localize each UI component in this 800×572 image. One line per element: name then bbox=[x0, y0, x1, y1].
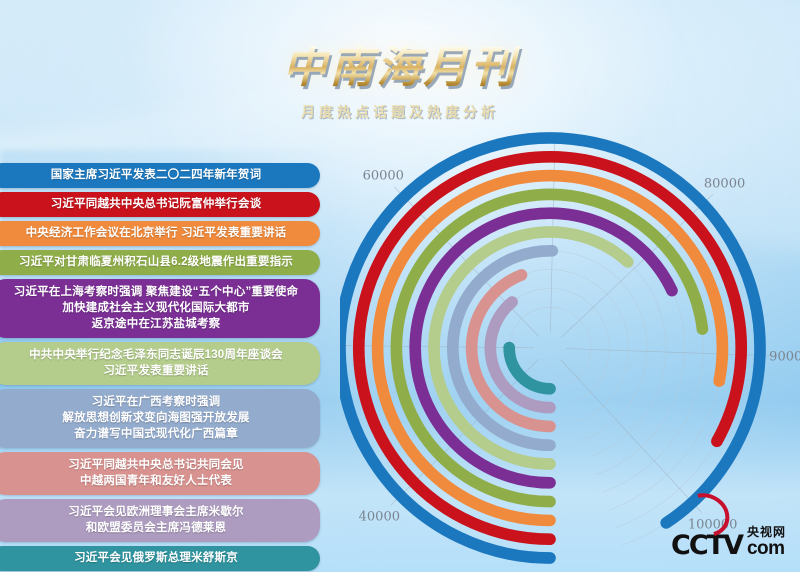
topic-label-2[interactable]: 习近平同越共中央总书记阮富仲举行会谈 bbox=[0, 192, 320, 217]
grid-spoke bbox=[561, 360, 702, 513]
page-title: 中南海月刊 bbox=[277, 46, 524, 90]
axis-tick-label: 40000 bbox=[359, 510, 400, 525]
radial-bar[interactable] bbox=[396, 194, 702, 501]
topic-label-line: 习近平在上海考察时强调 聚焦建设“五个中心”重要使命 bbox=[6, 284, 306, 300]
topic-label-list: 国家主席习近平发表二〇二四年新年贺词习近平同越共中央总书记阮富仲举行会谈中央经济… bbox=[0, 163, 320, 572]
cctv-domain-suffix: com bbox=[747, 539, 785, 558]
cctv-wordmark: CCTV bbox=[671, 534, 742, 558]
topic-label-10[interactable]: 习近平会见俄罗斯总理米舒斯京 bbox=[0, 546, 320, 571]
axis-tick-label: 90000 bbox=[769, 349, 800, 364]
topic-label-line: 习近平在广西考察时强调 bbox=[6, 394, 306, 410]
topic-label-5[interactable]: 习近平在上海考察时强调 聚焦建设“五个中心”重要使命加快建成社会主义现代化国际大… bbox=[0, 279, 320, 338]
cctv-chinese-name: 央视网 bbox=[747, 526, 786, 538]
topic-label-8[interactable]: 习近平同越共中央总书记共同会见中越两国青年和友好人士代表 bbox=[0, 452, 320, 495]
topic-label-line: 中越两国青年和友好人士代表 bbox=[6, 473, 306, 489]
topic-label-line: 返京途中在江苏盐城考察 bbox=[6, 316, 306, 332]
topic-label-line: 习近平对甘肃临夏州积石山县6.2级地震作出重要指示 bbox=[6, 254, 306, 270]
axis-tick-label: 80000 bbox=[704, 176, 745, 191]
page-subtitle: 月度热点话题及热度分析 bbox=[0, 102, 800, 122]
topic-label-3[interactable]: 中央经济工作会议在北京举行 习近平发表重要讲话 bbox=[0, 221, 320, 246]
cctv-suffix: 央视网 com bbox=[747, 526, 786, 558]
topic-label-line: 中共中央举行纪念毛泽东同志诞辰130周年座谈会 bbox=[6, 347, 306, 363]
topic-label-line: 习近平会见俄罗斯总理米舒斯京 bbox=[6, 550, 306, 566]
cctv-watermark: CCTV 央视网 com bbox=[671, 526, 786, 558]
topic-label-6[interactable]: 中共中央举行纪念毛泽东同志诞辰130周年座谈会习近平发表重要讲话 bbox=[0, 342, 320, 385]
topic-label-line: 习近平同越共中央总书记共同会见 bbox=[6, 457, 306, 473]
radial-bar-chart-svg: 400005000060000700008000090000100000 bbox=[340, 132, 800, 572]
topic-label-line: 和欧盟委员会主席冯德莱恩 bbox=[6, 520, 306, 536]
header: 中南海月刊 月度热点话题及热度分析 bbox=[0, 46, 800, 122]
topic-label-4[interactable]: 习近平对甘肃临夏州积石山县6.2级地震作出重要指示 bbox=[0, 250, 320, 275]
topic-label-line: 中央经济工作会议在北京举行 习近平发表重要讲话 bbox=[6, 225, 306, 241]
topic-label-line: 加快建成社会主义现代化国际大都市 bbox=[6, 300, 306, 316]
topic-label-line: 国家主席习近平发表二〇二四年新年贺词 bbox=[6, 167, 306, 183]
axis-tick-label: 60000 bbox=[363, 168, 404, 183]
topic-label-line: 习近平会见欧洲理事会主席米歇尔 bbox=[6, 504, 306, 520]
topic-label-line: 习近平同越共中央总书记阮富仲举行会谈 bbox=[6, 196, 306, 212]
topic-label-line: 习近平发表重要讲话 bbox=[6, 363, 306, 379]
topic-label-9[interactable]: 习近平会见欧洲理事会主席米歇尔和欧盟委员会主席冯德莱恩 bbox=[0, 499, 320, 542]
topic-label-line: 解放思想创新求变向海图强开放发展 bbox=[6, 410, 306, 426]
radial-bar-chart: 400005000060000700008000090000100000 bbox=[340, 132, 800, 572]
topic-label-1[interactable]: 国家主席习近平发表二〇二四年新年贺词 bbox=[0, 163, 320, 188]
infographic-canvas: 中南海月刊 月度热点话题及热度分析 国家主席习近平发表二〇二四年新年贺词习近平同… bbox=[0, 0, 800, 572]
topic-label-line: 奋力谱写中国式现代化广西篇章 bbox=[6, 426, 306, 442]
topic-label-7[interactable]: 习近平在广西考察时强调解放思想创新求变向海图强开放发展奋力谱写中国式现代化广西篇… bbox=[0, 389, 320, 448]
